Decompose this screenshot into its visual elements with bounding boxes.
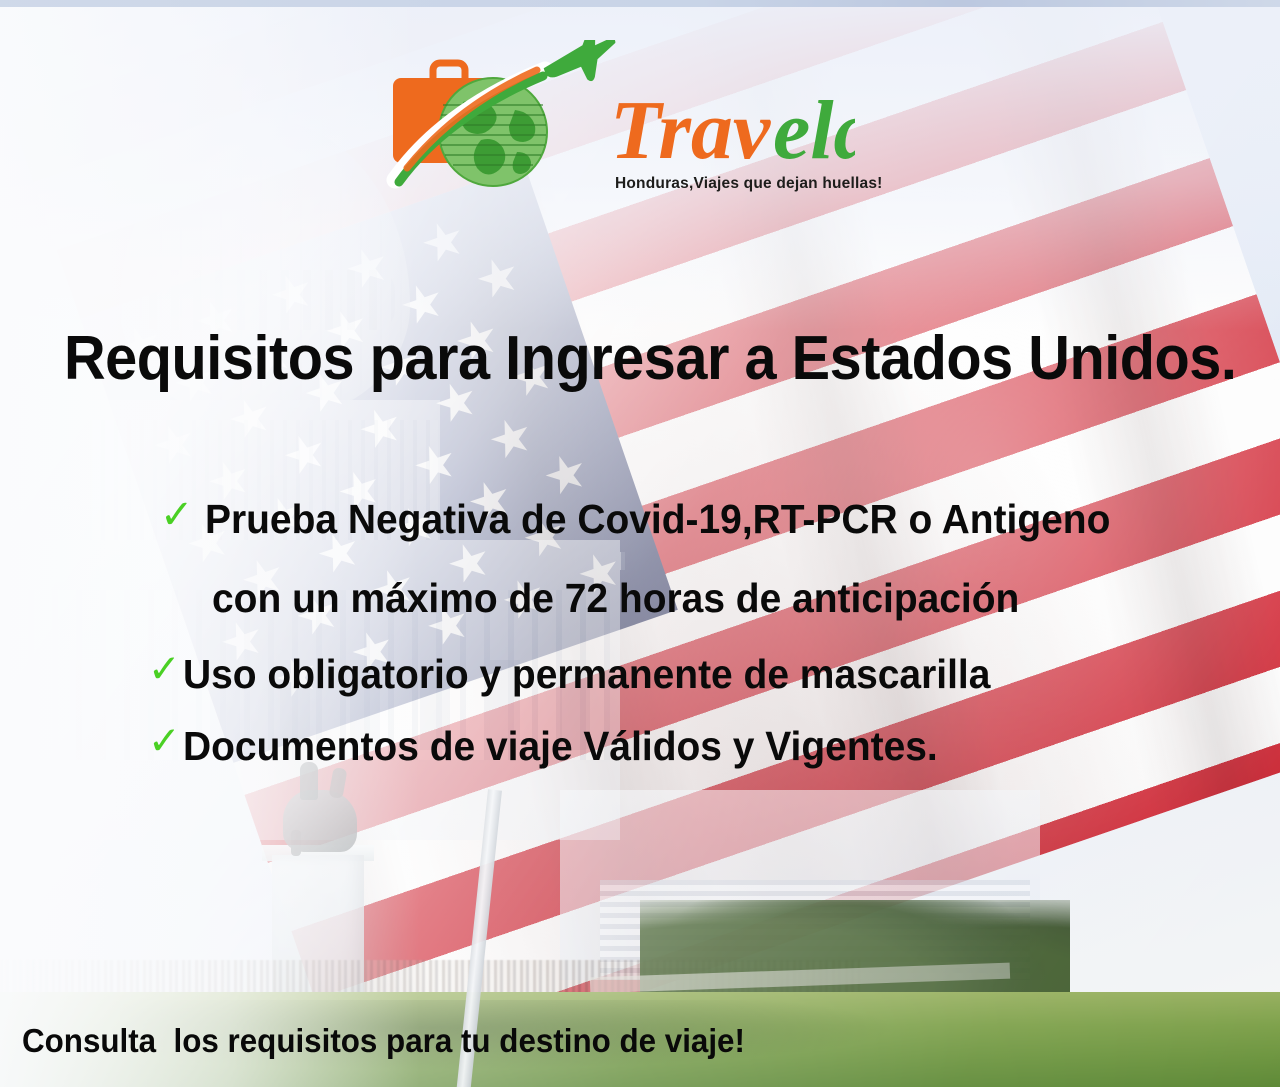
requirement-text-1b: con un máximo de 72 horas de anticipació… [212,571,1019,625]
requirement-text-3: Documentos de viaje Válidos y Vigentes. [183,719,938,773]
requirement-item-2: ✓ Uso obligatorio y permanente de mascar… [0,647,1280,701]
poster-canvas: Trav eland Honduras,Viajes que dejan hue… [0,0,1280,1087]
requirements-list: ✓ Prueba Negativa de Covid-19,RT-PCR o A… [0,492,1280,773]
svg-text:eland: eland [773,84,855,177]
brand-wordmark: Trav eland [610,84,855,177]
footer-cta: Consulta los requisitos para tu destino … [22,1022,745,1060]
svg-text:Trav: Trav [610,84,772,177]
brand-tagline: Honduras,Viajes que dejan huellas! [615,175,883,193]
check-icon: ✓ [160,495,194,535]
traveland-logo: Trav eland Honduras,Viajes que dejan hue… [385,40,855,205]
requirement-text-1: Prueba Negativa de Covid-19,RT-PCR o Ant… [205,492,1110,546]
check-icon: ✓ [148,650,181,689]
page-title: Requisitos para Ingresar a Estados Unido… [64,327,1236,390]
requirement-item-1-cont: con un máximo de 72 horas de anticipació… [0,571,1280,625]
requirement-item-1: ✓ Prueba Negativa de Covid-19,RT-PCR o A… [0,492,1280,546]
requirement-text-2: Uso obligatorio y permanente de mascaril… [183,647,990,701]
poster-content: Trav eland Honduras,Viajes que dejan hue… [0,0,1280,1087]
requirement-item-3: ✓ Documentos de viaje Válidos y Vigentes… [0,719,1280,773]
check-icon: ✓ [148,722,181,761]
